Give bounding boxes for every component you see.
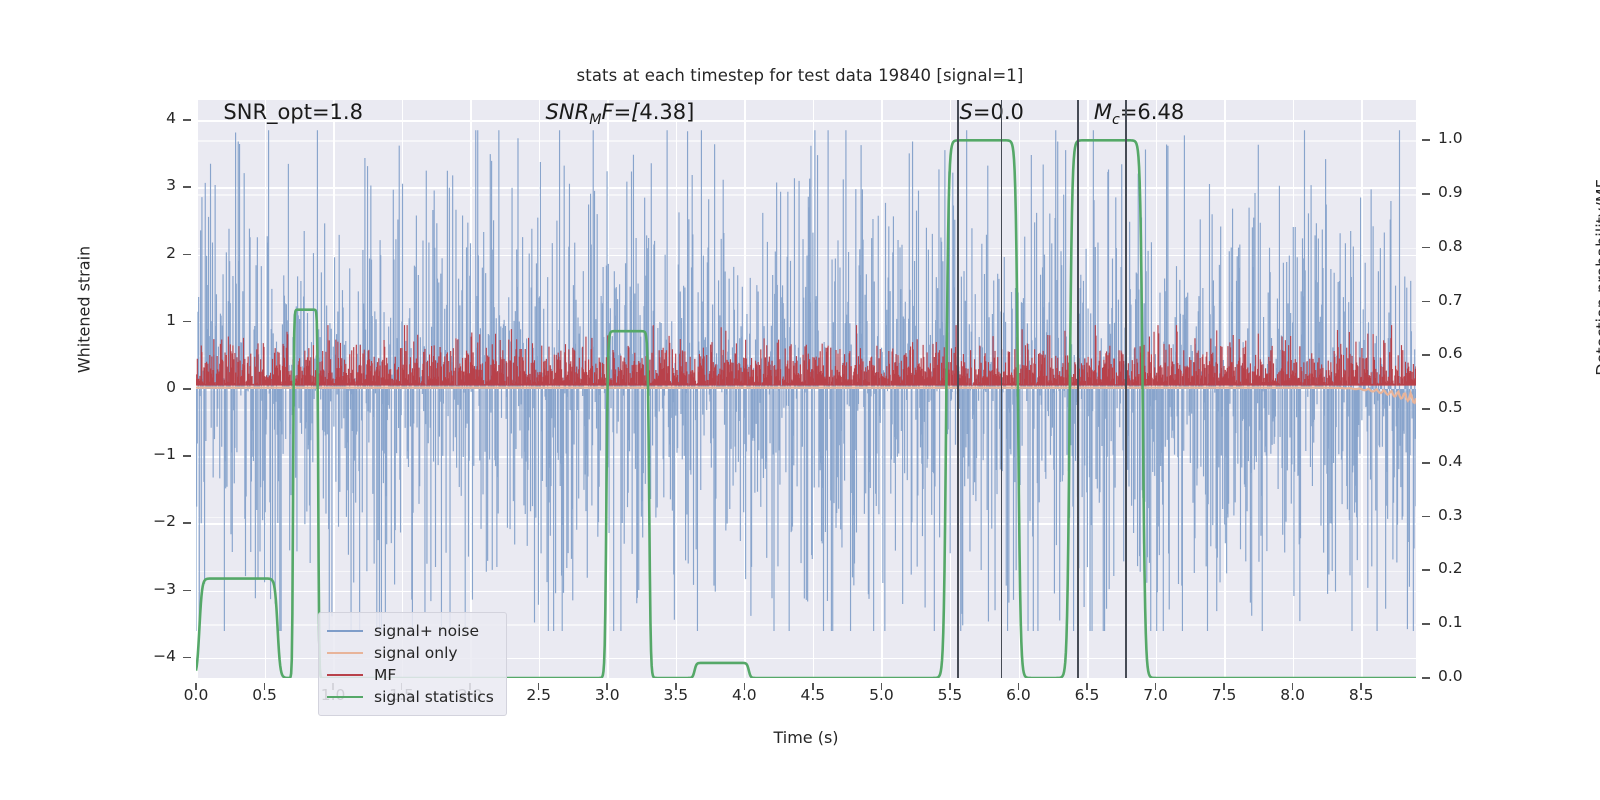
legend-color-swatch bbox=[327, 652, 363, 655]
y-tick-label-left: −1 bbox=[118, 445, 176, 463]
y-tick-label-left: 1 bbox=[118, 311, 176, 329]
vertical-marker-line bbox=[1001, 100, 1003, 678]
x-tick-mark bbox=[812, 683, 814, 690]
y-tick-mark-right bbox=[1422, 193, 1430, 195]
legend-item-label: signal+ noise bbox=[374, 622, 479, 640]
annotation-snr-mf: SNRMF=[4.38] bbox=[546, 100, 695, 128]
x-tick-mark bbox=[675, 683, 677, 690]
y-tick-label-right: 0.0 bbox=[1438, 667, 1488, 685]
x-tick-mark bbox=[606, 683, 608, 690]
y-tick-label-left: −3 bbox=[118, 580, 176, 598]
x-tick-mark bbox=[195, 683, 197, 690]
y-tick-mark-right bbox=[1422, 462, 1430, 464]
annotation-snr-mf-value: 4.38 bbox=[639, 100, 686, 124]
y-tick-mark-left bbox=[183, 388, 191, 390]
legend-color-swatch bbox=[327, 630, 363, 633]
annotation-s-stat: S=0.0 bbox=[960, 100, 1024, 124]
legend-item-label: signal only bbox=[374, 644, 458, 662]
legend[interactable]: signal+ noisesignal onlyMFsignal statist… bbox=[318, 612, 507, 716]
y-tick-label-right: 0.6 bbox=[1438, 344, 1488, 362]
y-tick-mark-right bbox=[1422, 677, 1430, 679]
annotation-s-value: =0.0 bbox=[973, 100, 1024, 124]
x-tick-mark bbox=[1223, 683, 1225, 690]
y-tick-label-right: 1.0 bbox=[1438, 129, 1488, 147]
legend-item[interactable]: MF bbox=[327, 664, 494, 686]
y-tick-mark-left bbox=[183, 119, 191, 121]
y-tick-mark-left bbox=[183, 455, 191, 457]
vertical-marker-line bbox=[957, 100, 959, 678]
annotation-snr-opt: SNR_opt=1.8 bbox=[223, 100, 363, 124]
legend-item[interactable]: signal only bbox=[327, 642, 494, 664]
y-tick-label-left: 2 bbox=[118, 244, 176, 262]
legend-color-swatch bbox=[327, 696, 363, 699]
y-tick-label-right: 0.8 bbox=[1438, 237, 1488, 255]
x-tick-mark bbox=[538, 683, 540, 690]
y-tick-mark-left bbox=[183, 254, 191, 256]
y-tick-mark-right bbox=[1422, 516, 1430, 518]
annotation-mc-value: =6.48 bbox=[1120, 100, 1184, 124]
y-tick-mark-right bbox=[1422, 354, 1430, 356]
x-tick-mark bbox=[1360, 683, 1362, 690]
legend-item-label: MF bbox=[374, 666, 396, 684]
legend-color-swatch bbox=[327, 674, 363, 677]
y-tick-mark-left bbox=[183, 522, 191, 524]
data-traces bbox=[196, 100, 1416, 678]
x-tick-mark bbox=[1155, 683, 1157, 690]
vertical-marker-line bbox=[1125, 100, 1127, 678]
y-tick-mark-right bbox=[1422, 569, 1430, 571]
y-tick-label-left: −2 bbox=[118, 512, 176, 530]
annotation-snr-opt-label: SNR_opt= bbox=[223, 100, 329, 124]
x-tick-mark bbox=[264, 683, 266, 690]
y-tick-label-right: 0.7 bbox=[1438, 291, 1488, 309]
y-tick-label-right: 0.2 bbox=[1438, 559, 1488, 577]
legend-item[interactable]: signal statistics bbox=[327, 686, 494, 708]
x-tick-mark bbox=[881, 683, 883, 690]
plot-area bbox=[196, 100, 1416, 678]
y-tick-mark-right bbox=[1422, 623, 1430, 625]
annotation-chirp-mass: Mc=6.48 bbox=[1094, 100, 1184, 128]
y-tick-label-left: 4 bbox=[118, 109, 176, 127]
x-tick-mark bbox=[949, 683, 951, 690]
y-tick-mark-left bbox=[183, 590, 191, 592]
y-tick-mark-left bbox=[183, 657, 191, 659]
legend-item-label: signal statistics bbox=[374, 688, 494, 706]
y-tick-label-right: 0.9 bbox=[1438, 183, 1488, 201]
y-tick-label-right: 0.5 bbox=[1438, 398, 1488, 416]
y-tick-mark-left bbox=[183, 186, 191, 188]
figure-canvas: stats at each timestep for test data 198… bbox=[0, 0, 1600, 800]
y-tick-label-left: 3 bbox=[118, 176, 176, 194]
annotation-s-symbol: S bbox=[960, 100, 973, 124]
x-tick-mark bbox=[1018, 683, 1020, 690]
y-tick-mark-right bbox=[1422, 247, 1430, 249]
y-axis-right-label: Detection probability/MF bbox=[1593, 118, 1600, 438]
y-tick-label-left: −4 bbox=[118, 647, 176, 665]
legend-item[interactable]: signal+ noise bbox=[327, 620, 494, 642]
annotation-snr-mf-prefix: SNR bbox=[546, 100, 590, 124]
annotation-snr-mf-mid: F=[ bbox=[602, 100, 640, 124]
annotation-snr-opt-value: 1.8 bbox=[330, 100, 363, 124]
y-tick-label-right: 0.4 bbox=[1438, 452, 1488, 470]
y-tick-mark-right bbox=[1422, 301, 1430, 303]
x-axis-label: Time (s) bbox=[196, 728, 1416, 747]
x-tick-mark bbox=[1292, 683, 1294, 690]
y-tick-mark-right bbox=[1422, 408, 1430, 410]
y-tick-label-left: 0 bbox=[118, 378, 176, 396]
annotation-mc-symbol: M bbox=[1094, 100, 1112, 124]
y-tick-mark-left bbox=[183, 321, 191, 323]
page-title: stats at each timestep for test data 198… bbox=[0, 66, 1600, 85]
x-tick-mark bbox=[744, 683, 746, 690]
annotation-snr-mf-sub: M bbox=[589, 112, 601, 128]
y-tick-label-right: 0.1 bbox=[1438, 613, 1488, 631]
vertical-marker-line bbox=[1077, 100, 1079, 678]
annotation-mc-sub: c bbox=[1112, 112, 1120, 128]
y-tick-mark-right bbox=[1422, 139, 1430, 141]
x-tick-mark bbox=[1086, 683, 1088, 690]
annotation-snr-mf-suffix: ] bbox=[686, 100, 694, 124]
y-axis-left-label: Whitened strain bbox=[75, 190, 94, 430]
y-tick-label-right: 0.3 bbox=[1438, 506, 1488, 524]
